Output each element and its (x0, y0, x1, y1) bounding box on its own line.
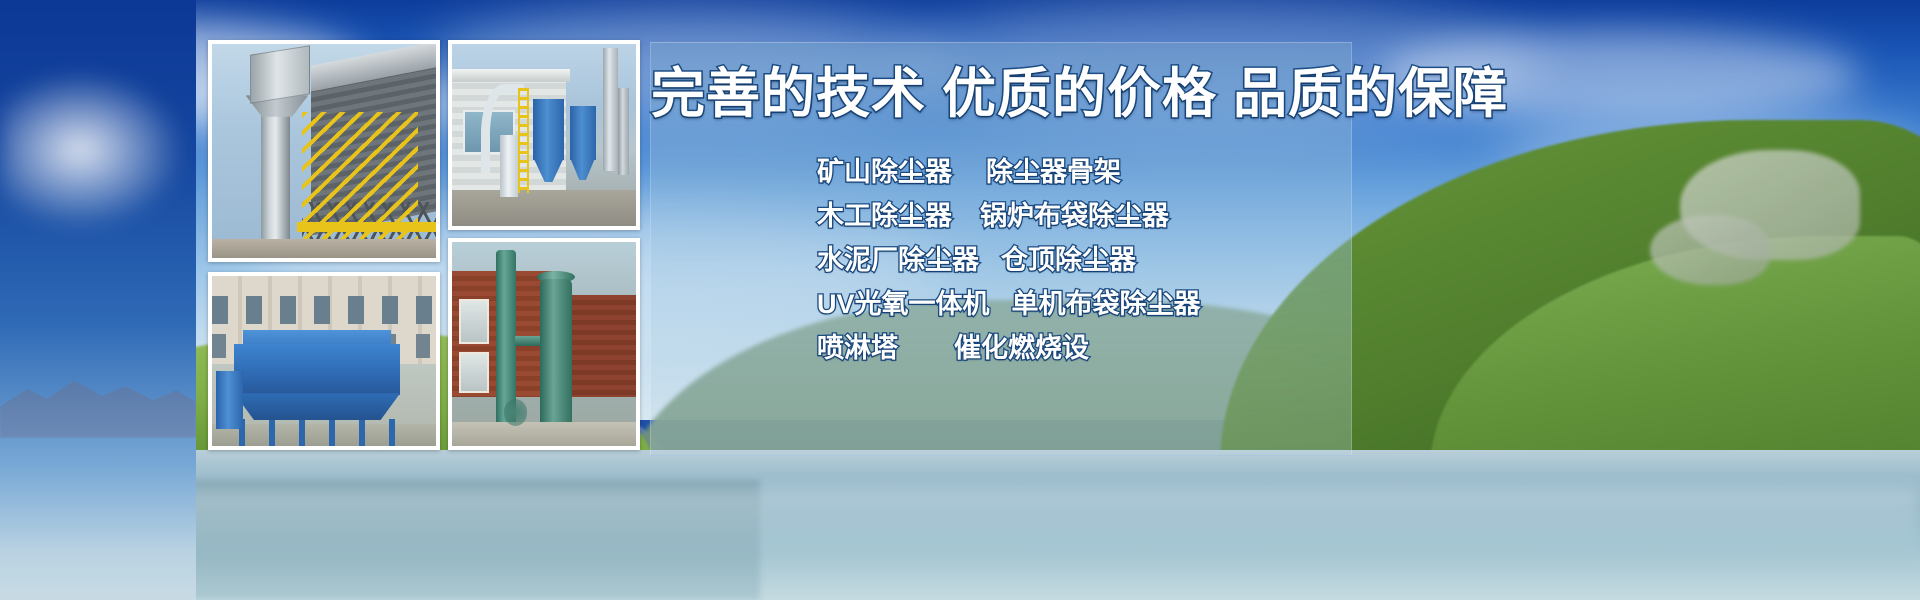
product-name-left: 喷淋塔 (817, 326, 898, 365)
exhaust-stack (618, 88, 629, 175)
yellow-railing (297, 222, 436, 233)
ground-surface (452, 190, 636, 226)
building-window (459, 299, 489, 344)
page-title: 完善的技术 优质的价格 品质的保障 (651, 65, 1351, 124)
collector-hopper (234, 393, 400, 420)
rock-outcrop (1650, 215, 1770, 285)
photo-content (452, 242, 636, 446)
ground-surface (212, 239, 436, 258)
factory-roof (452, 69, 570, 82)
list-item[interactable]: 矿山除尘器 除尘器骨架 (651, 147, 1351, 191)
air-duct (500, 135, 518, 197)
cloud-shape (0, 60, 200, 240)
support-legs (239, 419, 396, 446)
product-name-left: 矿山除尘器 (817, 150, 952, 189)
scrubber-tower (540, 279, 571, 422)
product-name-right: 仓顶除尘器 (1001, 238, 1136, 277)
hopper-body (533, 99, 564, 161)
photo-content (212, 276, 436, 446)
hopper-cone (570, 157, 596, 181)
product-name-right: 除尘器骨架 (986, 150, 1121, 189)
product-list: 矿山除尘器 除尘器骨架 木工除尘器 锅炉布袋除尘器 水泥厂除尘器 仓顶除尘器 U… (651, 147, 1351, 367)
photo-content (452, 44, 636, 226)
ground-surface (452, 422, 636, 446)
list-item[interactable]: 水泥厂除尘器 仓顶除尘器 (651, 235, 1351, 279)
blue-dust-collector-photo[interactable] (208, 272, 440, 450)
scrubber-tower-photo[interactable] (448, 238, 640, 450)
collector-body (234, 344, 400, 395)
list-item[interactable]: 喷淋塔 催化燃烧设 (651, 323, 1351, 367)
product-name-left: UV光氧一体机 (817, 282, 990, 321)
product-name-right: 单机布袋除尘器 (1012, 282, 1201, 321)
photo-content (212, 44, 436, 258)
duct-hopper-photo[interactable] (448, 40, 640, 230)
message-panel: 完善的技术 优质的价格 品质的保障 矿山除尘器 除尘器骨架 木工除尘器 锅炉布袋… (650, 42, 1352, 456)
product-name-right: 锅炉布袋除尘器 (980, 194, 1169, 233)
product-name-left: 水泥厂除尘器 (817, 238, 979, 277)
air-duct (216, 371, 243, 429)
cyclone-baghouse-photo[interactable] (208, 40, 440, 262)
product-name-right: 催化燃烧设 (954, 326, 1089, 365)
product-name-left: 木工除尘器 (817, 194, 952, 233)
yellow-ladder (518, 88, 529, 194)
exhaust-stack (603, 48, 618, 172)
list-item[interactable]: 木工除尘器 锅炉布袋除尘器 (651, 191, 1351, 235)
promo-banner: 完善的技术 优质的价格 品质的保障 矿山除尘器 除尘器骨架 木工除尘器 锅炉布袋… (0, 0, 1920, 600)
water-reflection (0, 490, 1920, 560)
facade-windows (212, 296, 436, 323)
building-window (459, 352, 489, 393)
scrubber-tower (496, 250, 516, 421)
list-item[interactable]: UV光氧一体机 单机布袋除尘器 (651, 279, 1351, 323)
hopper-body (570, 106, 596, 161)
stack-top-section (250, 46, 310, 105)
blower-fan (504, 399, 528, 426)
